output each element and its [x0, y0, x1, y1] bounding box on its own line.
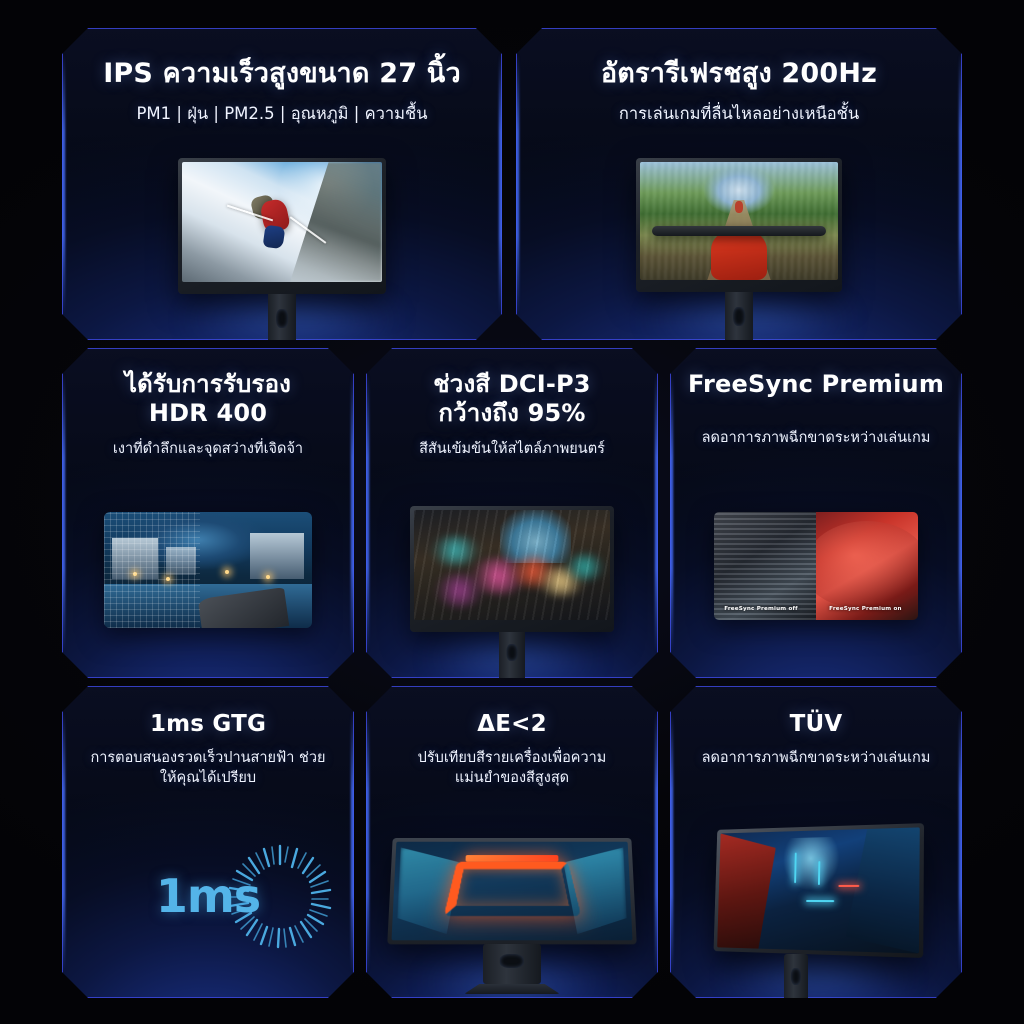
hdr-image-frame	[104, 512, 312, 628]
panel-ips-27: IPS ความเร็วสูงขนาด 27 นิ้ว PM1 | ฝุ่น |…	[62, 28, 502, 340]
panel-subtext: PM1 | ฝุ่น | PM2.5 | อุณหภูมิ | ความชื้น	[62, 91, 502, 125]
panel-heading-line1: ช่วงสี DCI-P3	[366, 370, 658, 399]
panel-heading: อัตรารีเฟรชสูง 200Hz	[516, 28, 962, 91]
panel-heading-line1: ได้รับการรับรอง	[62, 370, 354, 399]
monitor-screen	[182, 162, 382, 282]
monitor-neck	[483, 944, 541, 984]
hdr-scene-art	[104, 512, 312, 628]
monitor-skiing-scene	[178, 158, 386, 340]
monitor-rear-tech-scene	[390, 836, 634, 994]
monitor-bezel	[714, 823, 925, 958]
panel-heading: IPS ความเร็วสูงขนาด 27 นิ้ว	[62, 28, 502, 91]
panel-subtext-line1: ปรับเทียบสีรายเครื่องเพื่อความ	[366, 749, 658, 769]
monitor-bezel	[387, 838, 637, 944]
panel-heading-line2: HDR 400	[62, 399, 354, 428]
dci-p3-scene-art	[414, 510, 610, 620]
product-feature-board: IPS ความเร็วสูงขนาด 27 นิ้ว PM1 | ฝุ่น |…	[0, 0, 1024, 1024]
monitor-cyberpunk-scene	[706, 826, 922, 998]
monitor-bezel	[636, 158, 842, 292]
panel-heading: ช่วงสี DCI-P3 กว้างถึง 95%	[366, 348, 658, 429]
skiing-scene-art	[182, 162, 382, 282]
panel-heading: ΔE<2	[366, 686, 658, 738]
panel-heading-line2: กว้างถึง 95%	[366, 399, 658, 428]
monitor-base	[464, 984, 560, 994]
monitor-neck	[268, 294, 296, 340]
motocross-scene-art	[640, 162, 838, 280]
panel-subtext: เงาที่ดำลึกและจุดสว่างที่เจิดจ้า	[62, 429, 354, 460]
panel-heading: 1ms GTG	[62, 686, 354, 738]
panel-heading: TÜV	[670, 686, 962, 738]
panel-subtext: การตอบสนองรวดเร็วปานสายฟ้า ช่วย ให้คุณได…	[62, 738, 354, 788]
monitor-bezel	[410, 506, 614, 632]
monitor-neck	[784, 954, 808, 998]
hdr-game-scene	[104, 512, 312, 628]
panel-subtext: ลดอาการภาพฉีกขาดระหว่างเล่นเกม	[670, 399, 962, 449]
panel-hdr-400: ได้รับการรับรอง HDR 400 เงาที่ดำลึกและจุ…	[62, 348, 354, 678]
panel-subtext-line2: แม่นยำของสีสูงสุด	[366, 769, 658, 789]
freesync-on-label: FreeSync Premium on	[829, 606, 902, 612]
panel-delta-e: ΔE<2 ปรับเทียบสีรายเครื่องเพื่อความ แม่น…	[366, 686, 658, 998]
panel-heading: FreeSync Premium	[670, 348, 962, 399]
freesync-off-label: FreeSync Premium off	[724, 606, 798, 612]
panel-1ms-gtg: 1ms GTG การตอบสนองรวดเร็วปานสายฟ้า ช่วย …	[62, 686, 354, 998]
monitor-screen	[414, 510, 610, 620]
panel-subtext: ปรับเทียบสีรายเครื่องเพื่อความ แม่นยำของ…	[366, 738, 658, 788]
panel-tuv: TÜV ลดอาการภาพฉีกขาดระหว่างเล่นเกม	[670, 686, 962, 998]
monitor-screen	[717, 827, 920, 953]
1ms-logo-text: 1ms	[156, 869, 260, 923]
freesync-scene-art	[714, 512, 918, 620]
monitor-motocross-scene	[636, 158, 842, 340]
panel-refresh-200hz: อัตรารีเฟรชสูง 200Hz การเล่นเกมที่ลื่นไห…	[516, 28, 962, 340]
panel-subtext-line2: ให้คุณได้เปรียบ	[62, 769, 354, 789]
panel-freesync-premium: FreeSync Premium ลดอาการภาพฉีกขาดระหว่าง…	[670, 348, 962, 678]
cyberpunk-scene-art	[717, 827, 920, 953]
monitor-colorful-smoke-scene	[410, 506, 614, 678]
1ms-burst-logo: 1ms	[62, 836, 354, 956]
panel-subtext-line1: การตอบสนองรวดเร็วปานสายฟ้า ช่วย	[62, 749, 354, 769]
monitor-neck	[499, 632, 525, 678]
panel-subtext: ลดอาการภาพฉีกขาดระหว่างเล่นเกม	[670, 738, 962, 769]
panel-heading: ได้รับการรับรอง HDR 400	[62, 348, 354, 429]
monitor-bezel	[178, 158, 386, 294]
comparison-frame: FreeSync Premium off FreeSync Premium on	[714, 512, 918, 620]
rear-tech-scene-art	[392, 842, 633, 941]
freesync-off-half	[714, 512, 816, 620]
freesync-comparison-image: FreeSync Premium off FreeSync Premium on	[714, 512, 918, 620]
monitor-screen	[392, 842, 633, 941]
monitor-neck	[725, 292, 753, 340]
panel-subtext: สีสันเข้มข้นให้สไตล์ภาพยนตร์	[366, 429, 658, 460]
freesync-on-half	[816, 512, 918, 620]
panel-subtext: การเล่นเกมที่ลื่นไหลอย่างเหนือชั้น	[516, 91, 962, 125]
panel-dci-p3: ช่วงสี DCI-P3 กว้างถึง 95% สีสันเข้มข้นใ…	[366, 348, 658, 678]
monitor-screen	[640, 162, 838, 280]
